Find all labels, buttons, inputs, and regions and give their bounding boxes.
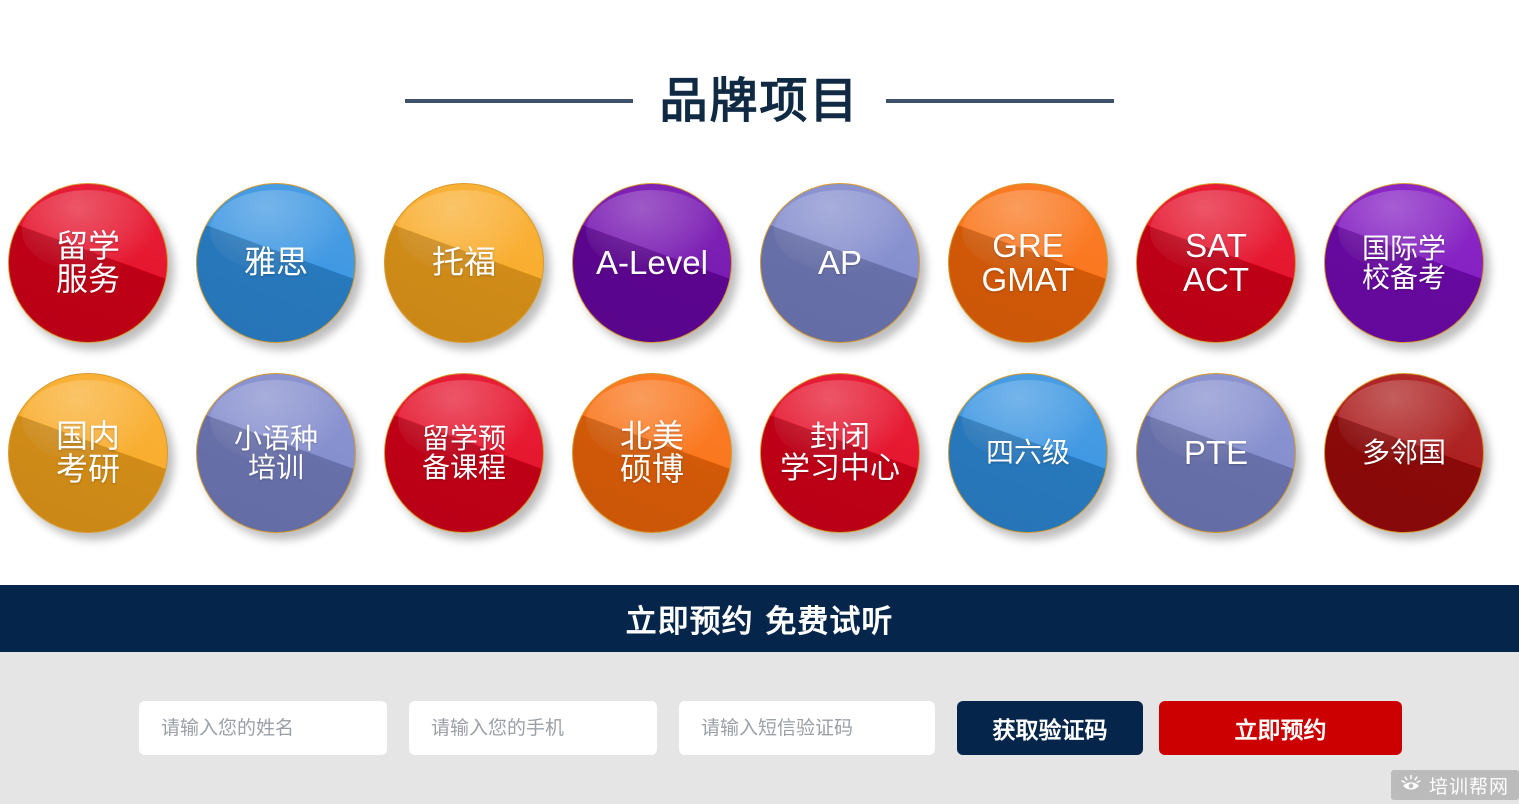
program-bubble-label: GRE GMAT bbox=[982, 229, 1075, 298]
program-bubble[interactable]: 多邻国 bbox=[1324, 373, 1484, 533]
program-cell: 小语种 培训 bbox=[196, 373, 384, 563]
program-bubble[interactable]: 雅思 bbox=[196, 183, 356, 343]
program-cell: 国际学 校备考 bbox=[1324, 183, 1512, 373]
phone-input[interactable] bbox=[409, 701, 657, 755]
program-row-2: 国内 考研小语种 培训留学预 备课程北美 硕博封闭 学习中心四六级PTE多邻国 bbox=[8, 373, 1512, 563]
name-input[interactable] bbox=[139, 701, 387, 755]
program-cell: A-Level bbox=[572, 183, 760, 373]
program-bubble-label: 多邻国 bbox=[1362, 438, 1446, 467]
program-row-1: 留学 服务雅思托福A-LevelAPGRE GMATSAT ACT国际学 校备考 bbox=[8, 183, 1512, 373]
program-bubble-label: 雅思 bbox=[244, 246, 308, 279]
program-bubble[interactable]: AP bbox=[760, 183, 920, 343]
program-bubble[interactable]: 小语种 培训 bbox=[196, 373, 356, 533]
program-bubble-label: 四六级 bbox=[986, 438, 1070, 467]
program-cell: AP bbox=[760, 183, 948, 373]
program-bubble[interactable]: A-Level bbox=[572, 183, 732, 343]
program-bubble[interactable]: 四六级 bbox=[948, 373, 1108, 533]
program-bubble-label: 留学预 备课程 bbox=[422, 424, 506, 482]
watermark-text: 培训帮网 bbox=[1429, 772, 1509, 799]
page-title-row: 品牌项目 bbox=[0, 62, 1519, 140]
program-bubble[interactable]: GRE GMAT bbox=[948, 183, 1108, 343]
program-cell: 国内 考研 bbox=[8, 373, 196, 563]
title-rule-left bbox=[405, 99, 633, 103]
program-bubble-label: 北美 硕博 bbox=[620, 420, 684, 487]
program-bubble-label: 托福 bbox=[432, 246, 496, 279]
program-bubble-label: 留学 服务 bbox=[56, 230, 120, 297]
program-cell: 四六级 bbox=[948, 373, 1136, 563]
program-cell: 北美 硕博 bbox=[572, 373, 760, 563]
program-bubble-label: AP bbox=[818, 246, 862, 280]
title-rule-right bbox=[886, 99, 1114, 103]
program-bubble[interactable]: 留学 服务 bbox=[8, 183, 168, 343]
program-bubble-label: 国际学 校备考 bbox=[1362, 234, 1446, 292]
program-bubble[interactable]: 留学预 备课程 bbox=[384, 373, 544, 533]
cta-banner: 立即预约 免费试听 bbox=[0, 585, 1519, 652]
booking-form-strip: 获取验证码 立即预约 bbox=[0, 652, 1519, 804]
program-cell: PTE bbox=[1136, 373, 1324, 563]
eye-sun-icon bbox=[1400, 774, 1422, 796]
program-bubble[interactable]: 国际学 校备考 bbox=[1324, 183, 1484, 343]
program-bubble[interactable]: PTE bbox=[1136, 373, 1296, 533]
page-title: 品牌项目 bbox=[659, 77, 859, 125]
program-bubble[interactable]: 北美 硕博 bbox=[572, 373, 732, 533]
program-bubble-label: 小语种 培训 bbox=[234, 424, 318, 482]
program-bubble-label: 国内 考研 bbox=[56, 420, 120, 487]
program-grid: 留学 服务雅思托福A-LevelAPGRE GMATSAT ACT国际学 校备考… bbox=[8, 183, 1512, 563]
booking-form: 获取验证码 立即预约 bbox=[139, 701, 1402, 755]
program-bubble[interactable]: 托福 bbox=[384, 183, 544, 343]
program-cell: GRE GMAT bbox=[948, 183, 1136, 373]
program-bubble-label: A-Level bbox=[596, 246, 708, 280]
program-cell: 雅思 bbox=[196, 183, 384, 373]
site-watermark: 培训帮网 bbox=[1391, 770, 1519, 800]
cta-banner-text: 立即预约 免费试听 bbox=[626, 596, 894, 641]
get-verification-code-button[interactable]: 获取验证码 bbox=[957, 701, 1143, 755]
program-bubble-label: PTE bbox=[1184, 436, 1248, 470]
program-cell: 多邻国 bbox=[1324, 373, 1512, 563]
program-cell: 封闭 学习中心 bbox=[760, 373, 948, 563]
program-bubble-label: 封闭 学习中心 bbox=[780, 422, 900, 484]
submit-booking-button[interactable]: 立即预约 bbox=[1159, 701, 1402, 755]
program-cell: 留学预 备课程 bbox=[384, 373, 572, 563]
program-bubble[interactable]: SAT ACT bbox=[1136, 183, 1296, 343]
program-cell: 留学 服务 bbox=[8, 183, 196, 373]
program-bubble-label: SAT ACT bbox=[1183, 229, 1249, 298]
sms-code-input[interactable] bbox=[679, 701, 935, 755]
program-bubble[interactable]: 国内 考研 bbox=[8, 373, 168, 533]
program-bubble[interactable]: 封闭 学习中心 bbox=[760, 373, 920, 533]
program-cell: 托福 bbox=[384, 183, 572, 373]
program-cell: SAT ACT bbox=[1136, 183, 1324, 373]
